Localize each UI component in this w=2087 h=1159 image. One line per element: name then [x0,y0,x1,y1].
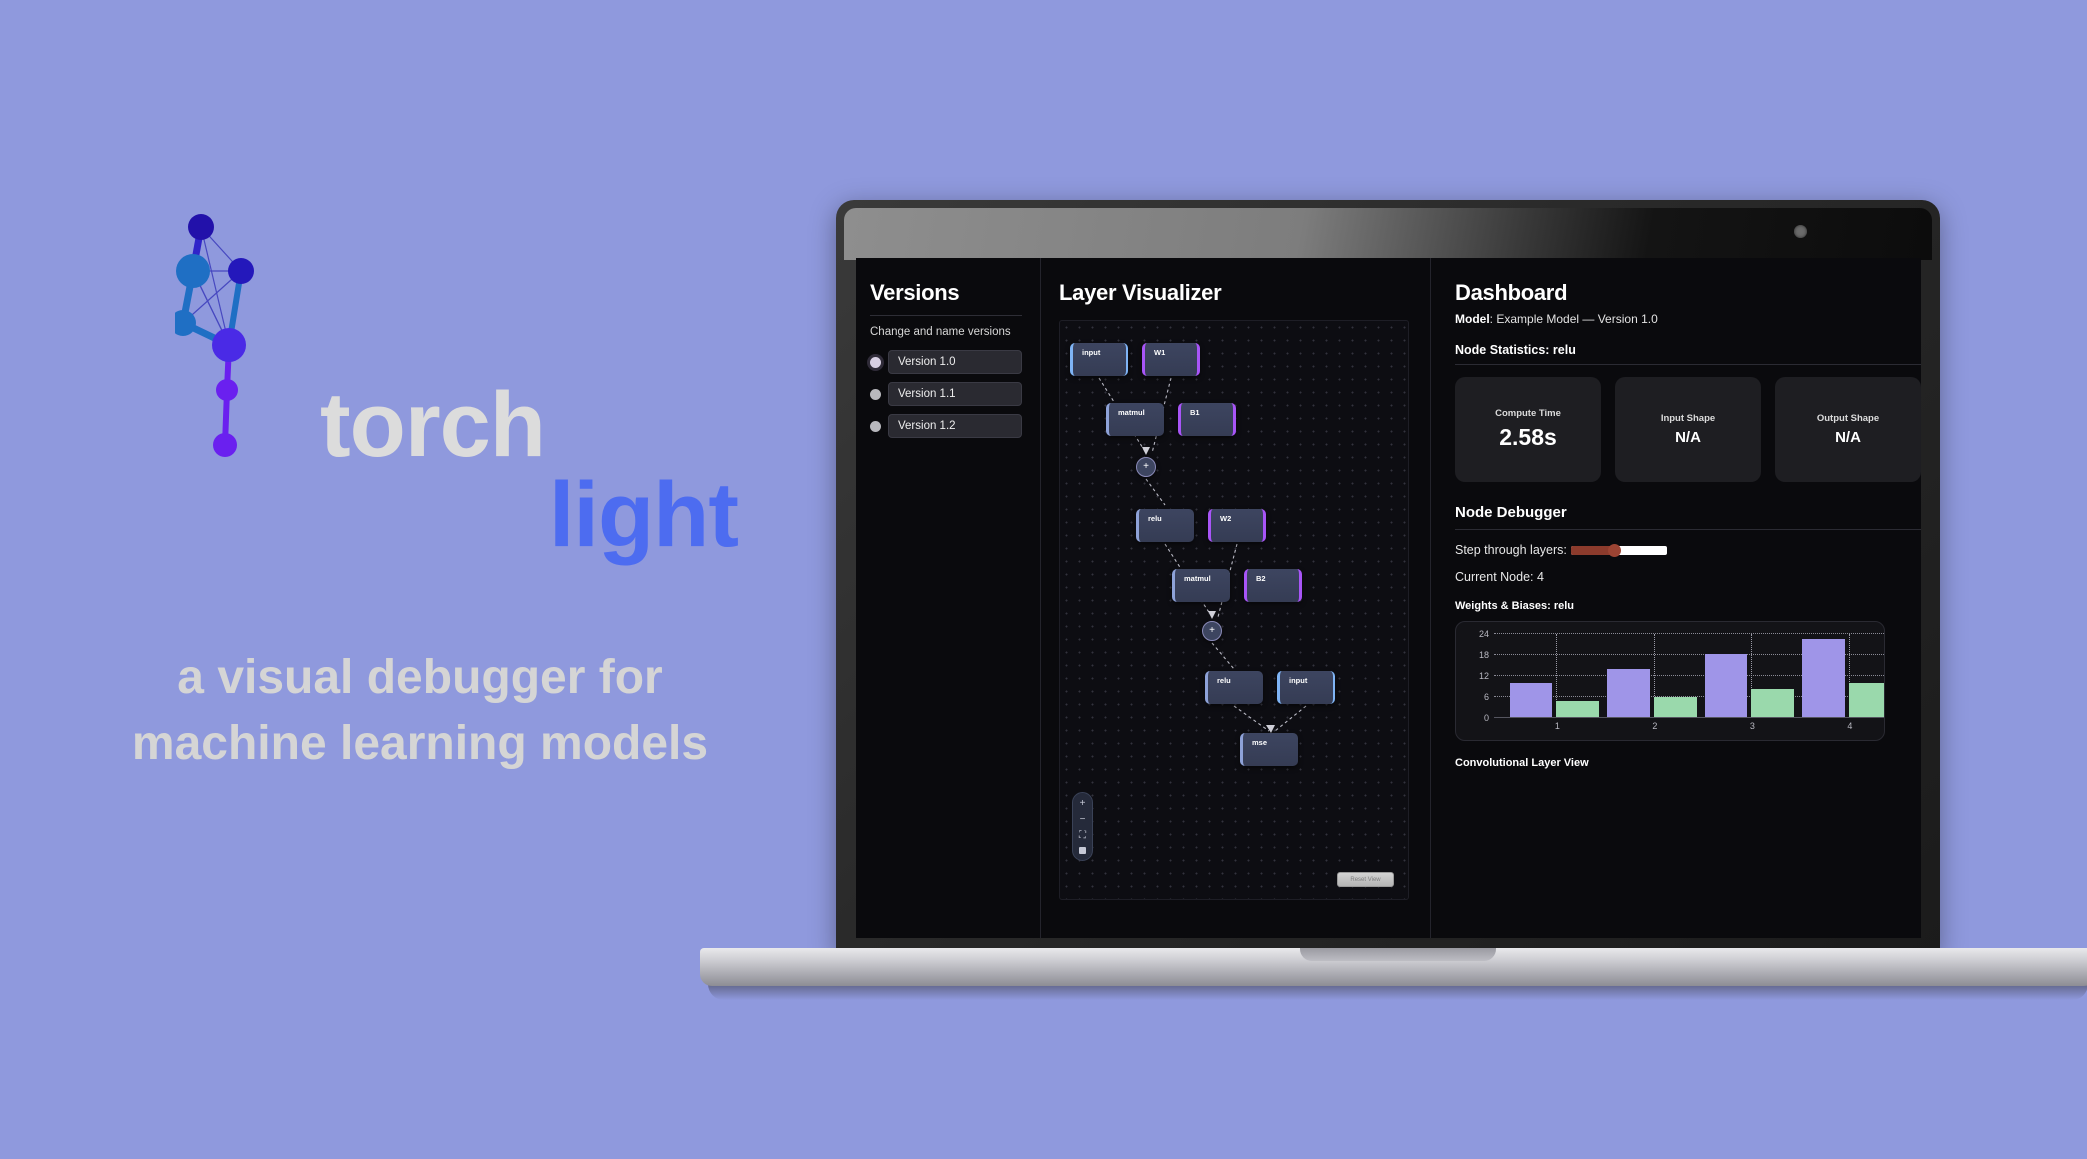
node-debugger-rule [1455,529,1921,530]
version-label[interactable]: Version 1.0 [888,350,1022,374]
graph-node-matmul-1[interactable]: matmul [1106,403,1164,436]
graph-node-b1[interactable]: B1 [1178,403,1236,436]
stat-card-label: Output Shape [1817,413,1879,424]
poster-root: torch light a visual debugger for machin… [0,0,2087,1159]
stat-card-compute-time: Compute Time 2.58s [1455,377,1601,482]
version-item-1-1[interactable]: Version 1.1 [870,382,1022,406]
graph-node-input-1[interactable]: input [1070,343,1128,376]
version-label[interactable]: Version 1.1 [888,382,1022,406]
lock-icon[interactable] [1079,847,1086,854]
zoom-out-icon[interactable]: − [1080,815,1086,824]
wordmark: torch light [320,380,740,560]
stat-card-value: 2.58s [1499,424,1557,451]
graph-node-matmul-2[interactable]: matmul [1172,569,1230,602]
bar-biases-4 [1849,683,1885,718]
gridline-24: 24 [1494,633,1884,634]
xtick-label: 3 [1750,721,1755,731]
slider-knob[interactable] [1608,544,1621,557]
xtick-label: 1 [1555,721,1560,731]
graph-node-mse[interactable]: mse [1240,733,1298,766]
ytick-label: 12 [1479,671,1489,681]
graph-canvas[interactable]: input W1 matmul B1 relu W2 matmul B2 rel… [1059,320,1409,900]
weights-biases-title: Weights & Biases: relu [1455,600,1921,612]
step-through-layers-row: Step through layers: [1455,543,1921,557]
laptop-base [700,948,2087,986]
version-item-1-0[interactable]: Version 1.0 [870,350,1022,374]
model-value: Example Model — Version 1.0 [1496,312,1657,326]
tagline: a visual debugger for machine learning m… [100,645,740,777]
zoom-controls[interactable]: + − ⛶ [1072,792,1093,861]
zoom-in-icon[interactable]: + [1080,799,1086,808]
bar-biases-3 [1751,689,1794,718]
convolutional-layer-view-title: Convolutional Layer View [1455,757,1921,769]
bar-weights-1 [1510,683,1553,718]
version-item-1-2[interactable]: Version 1.2 [870,414,1022,438]
weights-biases-chart: 24 18 12 6 0 1 2 3 4 [1455,621,1885,741]
version-label[interactable]: Version 1.2 [888,414,1022,438]
ytick-label: 0 [1484,713,1489,723]
stat-card-input-shape: Input Shape N/A [1615,377,1761,482]
layer-visualizer-title: Layer Visualizer [1059,280,1416,306]
versions-title: Versions [870,280,1022,306]
graph-node-input-2[interactable]: input [1277,671,1335,704]
graph-op-node-add-2[interactable]: + [1202,621,1222,641]
ytick-label: 6 [1484,692,1489,702]
chart-plot-area: 24 18 12 6 0 1 2 3 4 [1494,634,1884,718]
stat-card-value: N/A [1675,429,1701,446]
network-graph-icon [175,205,305,465]
stat-card-value: N/A [1835,429,1861,446]
screen-glare [844,208,1932,260]
model-line: Model: Example Model — Version 1.0 [1455,312,1921,326]
dashboard-title: Dashboard [1455,280,1921,306]
model-label: Model [1455,312,1490,326]
graph-node-b2[interactable]: B2 [1244,569,1302,602]
node-debugger-title: Node Debugger [1455,504,1921,521]
bar-weights-3 [1705,654,1748,718]
wordmark-torch: torch [320,380,740,470]
fit-view-icon[interactable]: ⛶ [1079,831,1086,840]
current-node-label: Current Node: 4 [1455,570,1921,584]
stat-card-label: Compute Time [1495,408,1561,419]
bar-biases-2 [1654,697,1697,718]
radio-icon[interactable] [870,357,881,368]
graph-op-node-add-1[interactable]: + [1136,457,1156,477]
graph-node-w2[interactable]: W2 [1208,509,1266,542]
reset-view-button[interactable]: Reset View [1337,872,1394,887]
slider-fill [1571,546,1612,555]
bar-weights-2 [1607,669,1650,718]
versions-sidebar: Versions Change and name versions Versio… [856,258,1041,938]
stat-card-output-shape: Output Shape N/A [1775,377,1921,482]
node-statistics-rule [1455,364,1921,365]
sidebar-divider [870,315,1022,316]
webcam-icon [1794,225,1807,238]
laptop-lid: Versions Change and name versions Versio… [836,200,1940,955]
dashboard-panel: Dashboard Model: Example Model — Version… [1431,258,1921,938]
graph-node-relu-2[interactable]: relu [1205,671,1263,704]
versions-subtitle: Change and name versions [870,326,1022,338]
xtick-label: 4 [1847,721,1852,731]
stat-card-label: Input Shape [1661,413,1715,424]
laptop-base-shadow [708,984,2087,1000]
radio-icon[interactable] [870,389,881,400]
step-slider[interactable] [1571,546,1667,555]
bar-weights-4 [1802,639,1845,718]
wordmark-light: light [320,470,740,560]
step-through-label: Step through layers: [1455,543,1567,557]
stat-cards: Compute Time 2.58s Input Shape N/A Outpu… [1455,377,1921,482]
graph-node-relu-1[interactable]: relu [1136,509,1194,542]
layer-visualizer-panel: Layer Visualizer [1041,258,1431,938]
ytick-label: 18 [1479,650,1489,660]
app-window: Versions Change and name versions Versio… [856,258,1921,938]
radio-icon[interactable] [870,421,881,432]
ytick-label: 24 [1479,629,1489,639]
node-statistics-title: Node Statistics: relu [1455,343,1921,357]
xtick-label: 2 [1652,721,1657,731]
laptop-mockup: Versions Change and name versions Versio… [836,200,2087,990]
bar-biases-1 [1556,701,1599,719]
laptop-screen: Versions Change and name versions Versio… [856,258,1921,938]
chart-x-axis [1494,717,1884,718]
graph-node-w1[interactable]: W1 [1142,343,1200,376]
